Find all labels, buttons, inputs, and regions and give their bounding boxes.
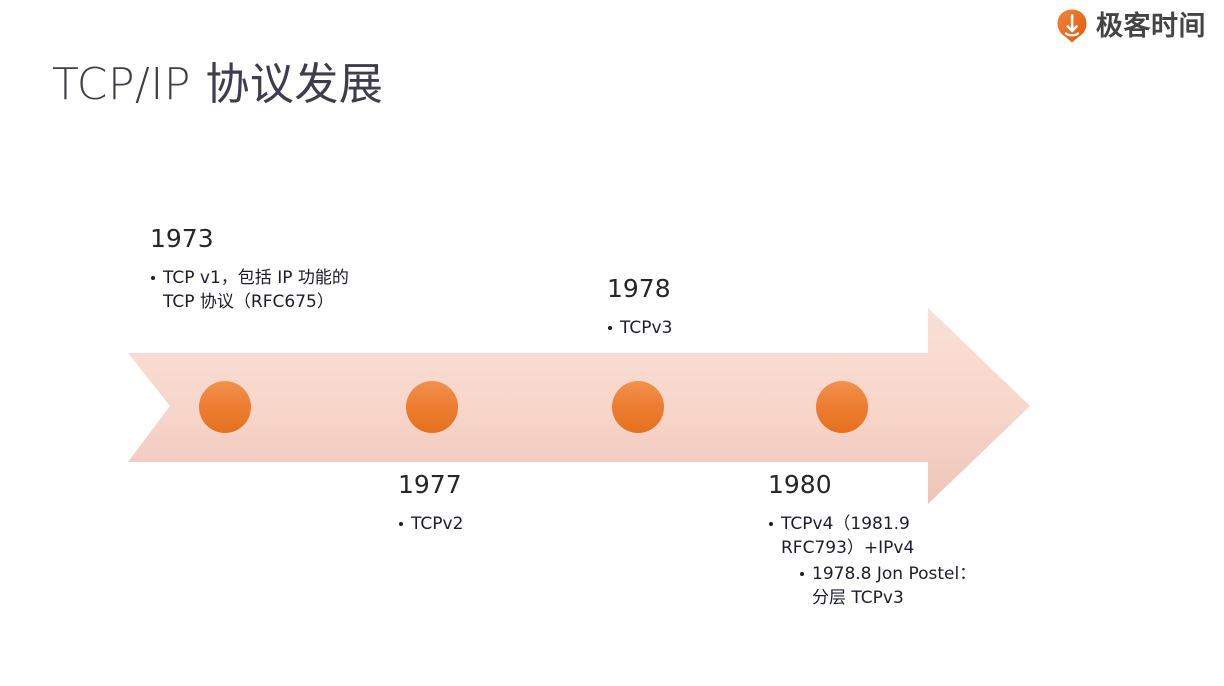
- geektime-logo-icon: [1055, 8, 1089, 44]
- list-item: TCPv4（1981.9 RFC793）+IPv4 1978.8 Jon Pos…: [768, 512, 983, 611]
- sub-list-item: 1978.8 Jon Postel：分层 TCPv3: [799, 562, 983, 610]
- milestone-1978: 1978 TCPv3: [607, 274, 807, 342]
- milestone-1973: 1973 TCP v1，包括 IP 功能的 TCP 协议（RFC675）: [150, 224, 350, 316]
- slide-canvas: 极客时间 TCP/IP 协议发展 1973 TCP v1，包括 IP 功能的 T…: [0, 0, 1224, 686]
- milestone-year: 1978: [607, 274, 807, 304]
- milestone-sub-bullet-list: 1978.8 Jon Postel：分层 TCPv3: [781, 562, 983, 610]
- list-item: TCPv3: [607, 316, 807, 340]
- timeline-marker-1973[interactable]: [199, 381, 251, 433]
- milestone-year: 1977: [398, 470, 598, 500]
- milestone-1980: 1980 TCPv4（1981.9 RFC793）+IPv4 1978.8 Jo…: [768, 470, 983, 613]
- list-item-text: TCPv4（1981.9 RFC793）+IPv4: [781, 514, 914, 558]
- milestone-bullet-list: TCPv3: [607, 316, 807, 340]
- list-item: TCPv2: [398, 512, 598, 536]
- list-item: TCP v1，包括 IP 功能的 TCP 协议（RFC675）: [150, 266, 350, 314]
- milestone-bullet-list: TCPv2: [398, 512, 598, 536]
- milestone-bullet-list: TCP v1，包括 IP 功能的 TCP 协议（RFC675）: [150, 266, 350, 314]
- brand-name: 极客时间: [1096, 13, 1206, 40]
- milestone-year: 1980: [768, 470, 983, 500]
- milestone-bullet-list: TCPv4（1981.9 RFC793）+IPv4 1978.8 Jon Pos…: [768, 512, 983, 611]
- timeline-marker-1977[interactable]: [406, 381, 458, 433]
- timeline-marker-1978[interactable]: [612, 381, 664, 433]
- brand-logo: 极客时间: [1055, 6, 1206, 46]
- milestone-1977: 1977 TCPv2: [398, 470, 598, 538]
- timeline-marker-1980[interactable]: [816, 381, 868, 433]
- milestone-year: 1973: [150, 224, 350, 254]
- page-title: TCP/IP 协议发展: [52, 57, 383, 112]
